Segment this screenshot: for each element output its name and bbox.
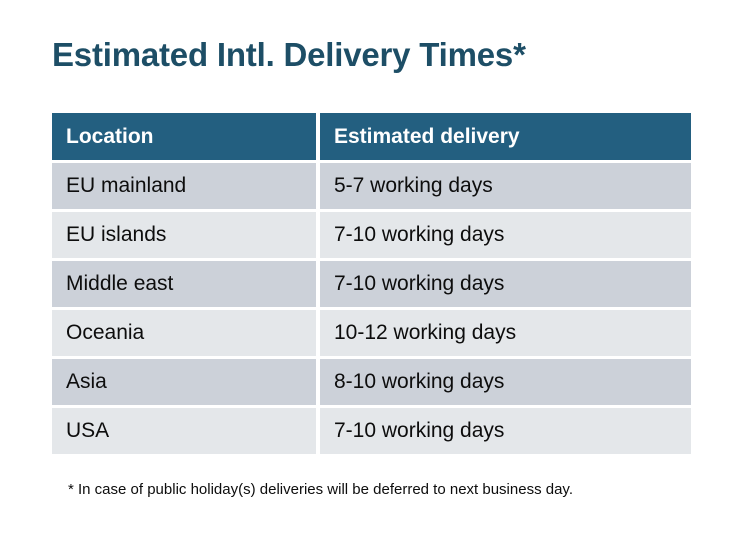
delivery-times-document: Estimated Intl. Delivery Times* Location… — [0, 0, 745, 536]
table-header-row: Location Estimated delivery — [52, 113, 691, 160]
cell-location: EU islands — [52, 212, 316, 258]
cell-delivery: 10-12 working days — [320, 310, 691, 356]
table-row: EU mainland 5-7 working days — [52, 163, 691, 209]
table-row: EU islands 7-10 working days — [52, 212, 691, 258]
column-header-location: Location — [52, 113, 316, 160]
cell-location: USA — [52, 408, 316, 454]
table-row: Asia 8-10 working days — [52, 359, 691, 405]
cell-delivery: 7-10 working days — [320, 212, 691, 258]
cell-delivery: 5-7 working days — [320, 163, 691, 209]
cell-delivery: 7-10 working days — [320, 408, 691, 454]
table-row: Middle east 7-10 working days — [52, 261, 691, 307]
delivery-times-table: Location Estimated delivery EU mainland … — [52, 113, 691, 457]
cell-delivery: 7-10 working days — [320, 261, 691, 307]
column-header-estimated-delivery: Estimated delivery — [320, 113, 691, 160]
cell-location: EU mainland — [52, 163, 316, 209]
table-row: Oceania 10-12 working days — [52, 310, 691, 356]
table-row: USA 7-10 working days — [52, 408, 691, 454]
cell-delivery: 8-10 working days — [320, 359, 691, 405]
footnote-text: * In case of public holiday(s) deliverie… — [68, 481, 573, 498]
cell-location: Middle east — [52, 261, 316, 307]
page-title: Estimated Intl. Delivery Times* — [52, 36, 526, 74]
cell-location: Asia — [52, 359, 316, 405]
cell-location: Oceania — [52, 310, 316, 356]
